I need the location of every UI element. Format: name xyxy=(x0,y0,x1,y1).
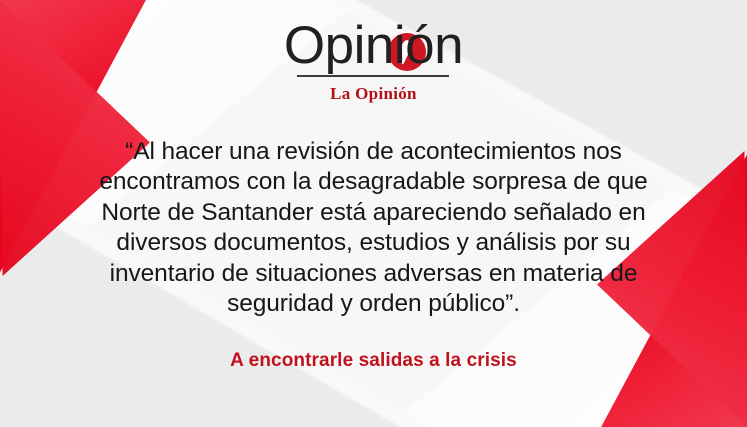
headline-text: A encontrarle salidas a la crisis xyxy=(230,350,517,372)
quote-card: Opinión La Opinión “Al hacer una revisió… xyxy=(0,0,747,427)
logo-wordmark-accent: ó xyxy=(405,16,434,75)
logo-wordmark-post: n xyxy=(434,16,463,75)
logo-subtitle: La Opinión xyxy=(330,84,417,104)
logo-wordmark-pre: Opini xyxy=(284,16,405,75)
card-content: Opinión La Opinión “Al hacer una revisió… xyxy=(0,0,747,427)
logo-wordmark: Opinión xyxy=(284,18,463,74)
brand-logo: Opinión La Opinión xyxy=(284,18,463,104)
quote-text: “Al hacer una revisión de acontecimiento… xyxy=(94,137,654,320)
